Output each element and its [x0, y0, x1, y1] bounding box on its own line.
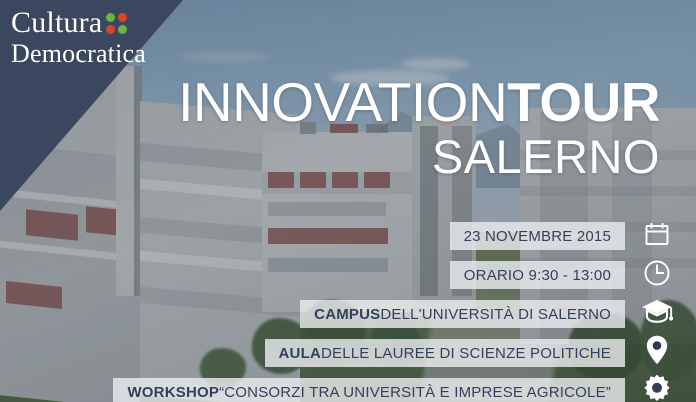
info-bar-venue-label: CAMPUS — [314, 306, 380, 323]
info-bar-date: 23 NOVEMBRE 2015 — [450, 222, 625, 250]
clock-icon — [636, 255, 678, 291]
map-pin-icon — [636, 332, 678, 368]
info-bar-date-text: 23 NOVEMBRE 2015 — [464, 228, 611, 245]
brand-name-line1: Cultura — [11, 8, 102, 38]
brand-name-line2: Democratica — [11, 41, 146, 67]
headline-main: INNOVATIONTOUR — [178, 76, 660, 129]
brand-logo: Cultura Democratica — [11, 8, 146, 67]
info-bar-topic: WORKSHOP “CONSORZI TRA UNIVERSITÀ E IMPR… — [113, 378, 625, 402]
info-bar-topic-text: “CONSORZI TRA UNIVERSITÀ E IMPRESE AGRIC… — [219, 384, 611, 401]
dot-green-bottom-right — [118, 25, 127, 34]
info-bar-room-text: DELLE LAUREE DI SCIENZE POLITICHE — [321, 345, 611, 362]
headline-light-part: INNOVATION — [178, 71, 507, 133]
gear-icon — [636, 370, 678, 402]
headline-subtitle: SALERNO — [178, 134, 660, 179]
calendar-icon — [636, 216, 678, 252]
brand-dots-icon — [106, 13, 127, 34]
info-bar-room-label: AULA — [279, 345, 321, 362]
dot-red-bottom-left — [106, 25, 115, 34]
dot-green-top-left — [106, 13, 115, 22]
info-bar-venue-text: DELL'UNIVERSITÀ DI SALERNO — [380, 306, 611, 323]
info-bar-topic-label: WORKSHOP — [127, 384, 219, 401]
info-bar-room: AULA DELLE LAUREE DI SCIENZE POLITICHE — [265, 339, 625, 367]
info-bar-venue: CAMPUS DELL'UNIVERSITÀ DI SALERNO — [300, 300, 625, 328]
info-bar-time-text: ORARIO 9:30 - 13:00 — [464, 267, 611, 284]
brand-logo-row-top: Cultura — [11, 8, 146, 38]
poster-headline: INNOVATIONTOUR SALERNO — [178, 76, 660, 179]
headline-bold-part: TOUR — [507, 71, 660, 133]
graduation-cap-icon — [636, 294, 678, 330]
dot-red-top-right — [118, 13, 127, 22]
info-bar-time: ORARIO 9:30 - 13:00 — [450, 261, 625, 289]
event-poster: Cultura Democratica INNOVATIONTOUR SALER… — [0, 0, 696, 402]
